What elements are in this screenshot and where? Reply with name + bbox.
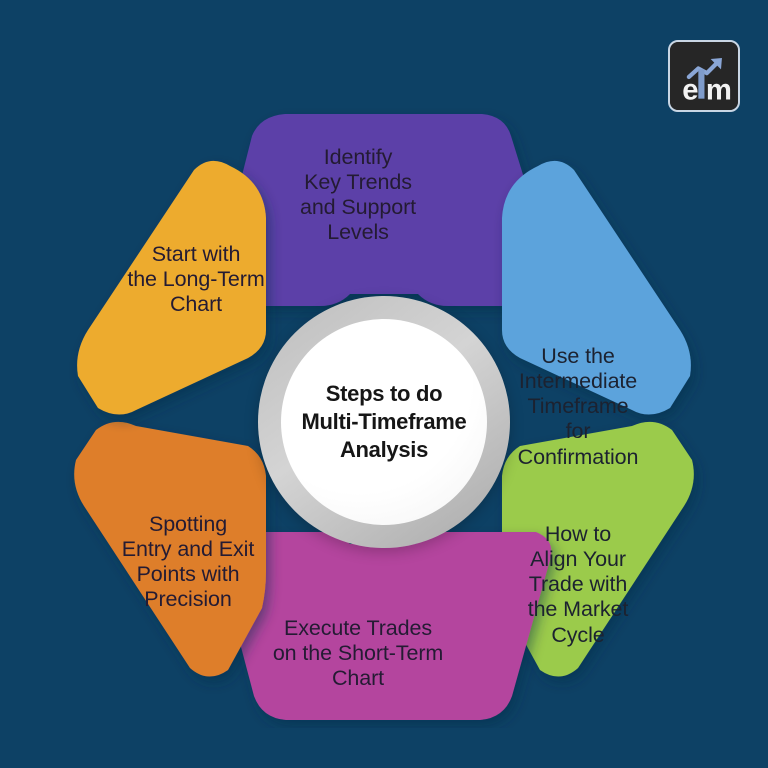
segment-shape-start-long-term-chart[interactable]	[77, 161, 266, 415]
segment-shape-spotting-entry-exit-points[interactable]	[74, 422, 266, 677]
elm-logo[interactable]: e m	[668, 40, 740, 112]
center-hub: Steps to do Multi-Timeframe Analysis	[258, 296, 510, 548]
elm-logo-graphic: e m	[670, 42, 738, 110]
segment-shape-use-intermediate-timeframe[interactable]	[502, 161, 691, 415]
logo-letter-l	[698, 69, 704, 98]
center-hub-inner: Steps to do Multi-Timeframe Analysis	[281, 319, 487, 525]
logo-letter-e: e	[682, 75, 698, 107]
page-title: Steps to do Multi-Timeframe Analysis	[293, 380, 474, 463]
segment-shape-execute-trades-short-term[interactable]	[217, 532, 552, 720]
infographic-canvas: e m Identify Key T	[0, 0, 768, 768]
logo-letter-m: m	[706, 75, 732, 107]
